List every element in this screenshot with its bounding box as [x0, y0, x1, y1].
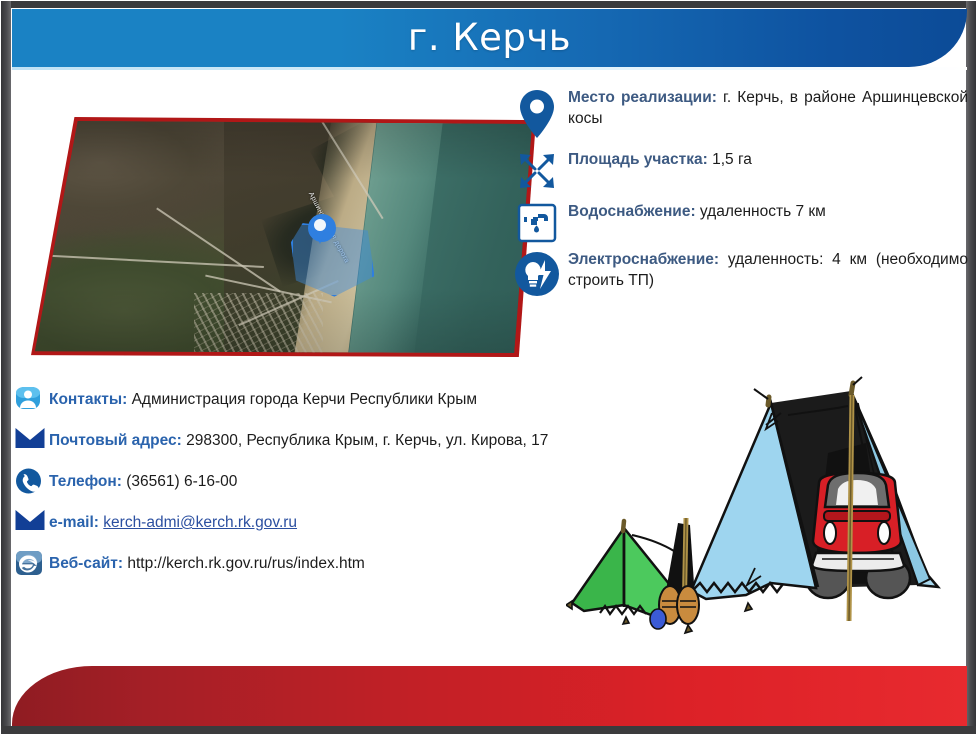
- map-vignette: [35, 121, 532, 353]
- header-banner: г. Керчь: [12, 9, 967, 67]
- info-value-water: удаленность 7 км: [696, 203, 826, 220]
- water-tap-icon: [506, 201, 568, 243]
- contact-row-postal: Почтовый адрес: 298300, Республика Крым,…: [15, 427, 575, 452]
- footer-banner: [12, 666, 967, 726]
- contact-label-website: Веб-сайт:: [49, 555, 123, 572]
- expand-arrows-icon: [506, 149, 568, 191]
- info-label-area: Площадь участка:: [568, 151, 708, 168]
- contact-value-postal: 298300, Республика Крым, г. Керчь, ул. К…: [186, 432, 548, 449]
- satellite-map[interactable]: Аршинцевская дорога: [31, 117, 536, 357]
- contact-label-phone: Телефон:: [49, 473, 122, 490]
- email-link[interactable]: kerch-admi@kerch.rk.gov.ru: [103, 514, 297, 531]
- internet-explorer-icon: [15, 550, 45, 574]
- slide-frame-left: [1, 1, 11, 735]
- contact-label-email: e-mail:: [49, 514, 99, 531]
- envelope-icon: [15, 427, 45, 451]
- map-pin-icon: [506, 87, 568, 139]
- contact-value-phone: (36561) 6-16-00: [122, 473, 237, 490]
- contact-row-website: Веб-сайт: http://kerch.rk.gov.ru/rus/ind…: [15, 550, 575, 575]
- contact-label-postal: Почтовый адрес:: [49, 432, 182, 449]
- contact-row-email: e-mail: kerch-admi@kerch.rk.gov.ru: [15, 509, 575, 534]
- info-text-area: Площадь участка: 1,5 га: [568, 149, 976, 170]
- info-text-place: Место реализации: г. Керчь, в районе Арш…: [568, 87, 976, 129]
- page-title: г. Керчь: [12, 14, 967, 62]
- info-row-area: Площадь участка: 1,5 га: [506, 149, 976, 191]
- info-text-water: Водоснабжение: удаленность 7 км: [568, 201, 976, 222]
- camping-tents-with-car-illustration: [566, 373, 966, 658]
- info-label-place: Место реализации:: [568, 89, 717, 106]
- info-value-area: 1,5 га: [708, 151, 752, 168]
- contact-line-postal: Почтовый адрес: 298300, Республика Крым,…: [15, 427, 575, 452]
- contact-row-phone: Телефон: (36561) 6-16-00: [15, 468, 575, 493]
- contact-value-website: http://kerch.rk.gov.ru/rus/index.htm: [123, 555, 365, 572]
- header-underline: [12, 67, 967, 70]
- contact-line-website: Веб-сайт: http://kerch.rk.gov.ru/rus/ind…: [15, 550, 575, 575]
- info-label-water: Водоснабжение:: [568, 203, 696, 220]
- contact-line-contacts: Контакты: Администрация города Керчи Рес…: [15, 386, 575, 411]
- slide-frame-bottom: [1, 726, 977, 734]
- contact-value-contacts: Администрация города Керчи Республики Кр…: [132, 391, 477, 408]
- envelope-icon: [15, 509, 45, 533]
- info-row-place: Место реализации: г. Керчь, в районе Арш…: [506, 87, 976, 139]
- map-imagery: Аршинцевская дорога: [35, 121, 532, 353]
- electricity-icon: [506, 249, 568, 297]
- info-row-power: Электроснабжение: удаленность: 4 км (нео…: [506, 249, 976, 297]
- phone-icon: [15, 468, 45, 492]
- info-text-power: Электроснабжение: удаленность: 4 км (нео…: [568, 249, 976, 291]
- contact-line-email: e-mail: kerch-admi@kerch.rk.gov.ru: [15, 509, 575, 534]
- slide-root: г. Керчь Аршинцевская дорога: [0, 0, 977, 735]
- contacts-block: Контакты: Администрация города Керчи Рес…: [15, 386, 575, 591]
- contact-line-phone: Телефон: (36561) 6-16-00: [15, 468, 575, 493]
- slide-frame-top: [1, 1, 977, 8]
- contact-row-contacts: Контакты: Администрация города Керчи Рес…: [15, 386, 575, 411]
- info-row-water: Водоснабжение: удаленность 7 км: [506, 201, 976, 243]
- site-info-list: Место реализации: г. Керчь, в районе Арш…: [506, 87, 976, 301]
- info-label-power: Электроснабжение:: [568, 251, 719, 268]
- person-icon: [15, 386, 45, 410]
- contact-label-contacts: Контакты:: [49, 391, 127, 408]
